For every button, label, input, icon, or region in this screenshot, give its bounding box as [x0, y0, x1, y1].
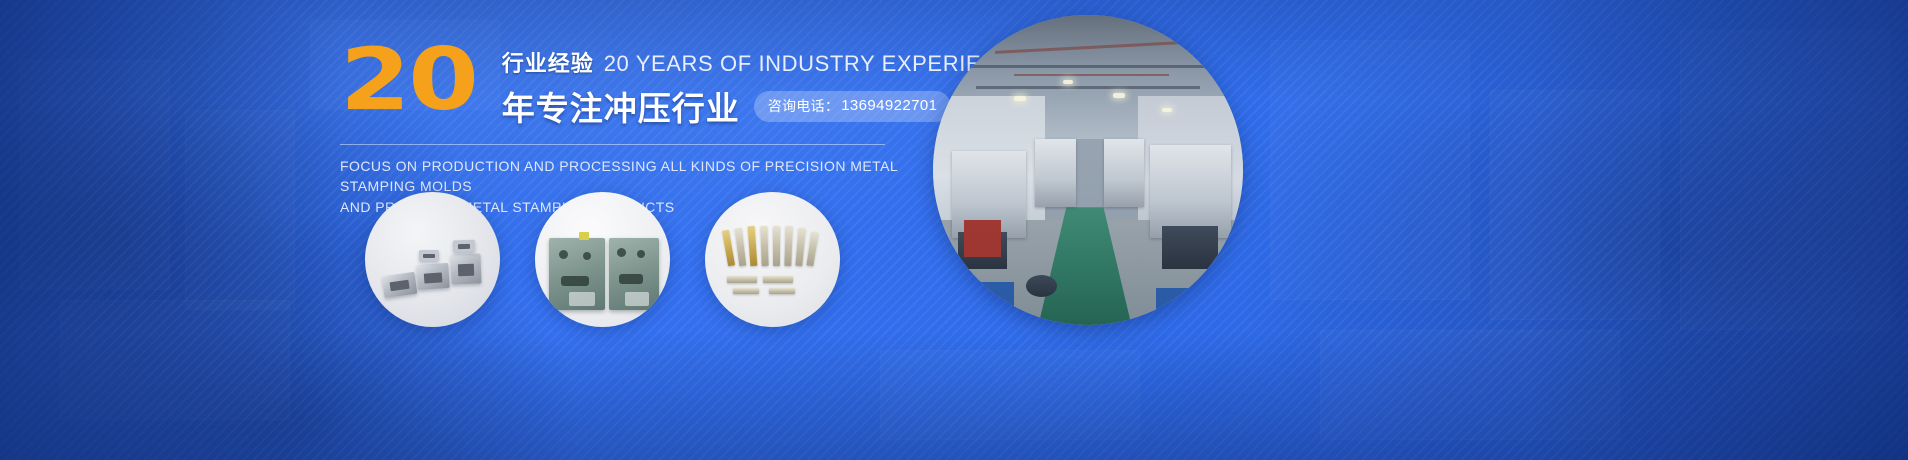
subtitle-line-1: FOCUS ON PRODUCTION AND PROCESSING ALL K… [340, 156, 900, 197]
headline-divider [340, 144, 885, 145]
headline-cn-small: 行业经验 [502, 46, 594, 78]
product-image-connectors [365, 192, 500, 327]
product-image-terminals [705, 192, 840, 327]
years-number: 20 [340, 44, 477, 118]
headline-text-block: 20 行业经验 20 YEARS OF INDUSTRY EXPERIENCE … [340, 40, 900, 217]
phone-badge[interactable]: 咨询电话： 13694922701 [754, 91, 952, 122]
phone-label: 咨询电话： [768, 96, 840, 116]
headline-row: 20 行业经验 20 YEARS OF INDUSTRY EXPERIENCE … [340, 40, 900, 130]
product-image-mold [535, 192, 670, 327]
phone-number: 13694922701 [841, 97, 937, 114]
promotional-banner: 20 行业经验 20 YEARS OF INDUSTRY EXPERIENCE … [0, 0, 1908, 460]
factory-photo [933, 15, 1243, 325]
headline-cn-big: 年专注冲压行业 [502, 82, 740, 130]
